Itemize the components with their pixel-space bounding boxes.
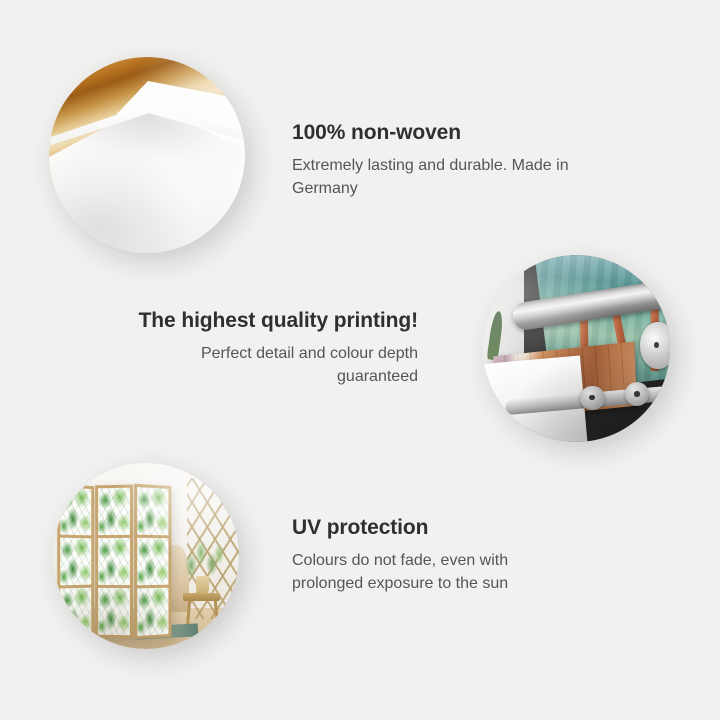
tropical-room-divider-photo bbox=[53, 463, 239, 649]
feature-text-non-woven: 100% non-woven Extremely lasting and dur… bbox=[292, 120, 602, 201]
wallpaper-peeling-sheet-photo bbox=[49, 57, 245, 253]
wide-format-printer-photo bbox=[483, 255, 670, 442]
feature-title-non-woven: 100% non-woven bbox=[292, 120, 602, 146]
feature-description-uv-protection: Colours do not fade, even with prolonged… bbox=[292, 550, 562, 595]
feature-image-non-woven bbox=[49, 57, 245, 253]
room-shading-overlay bbox=[53, 463, 239, 649]
feature-title-printing: The highest quality printing! bbox=[128, 308, 418, 334]
infographic-canvas: 100% non-woven Extremely lasting and dur… bbox=[0, 0, 720, 720]
feature-description-non-woven: Extremely lasting and durable. Made in G… bbox=[292, 155, 602, 200]
feature-text-uv-protection: UV protection Colours do not fade, even … bbox=[292, 515, 562, 596]
feature-text-printing: The highest quality printing! Perfect de… bbox=[128, 308, 418, 389]
feature-title-uv-protection: UV protection bbox=[292, 515, 562, 541]
feature-image-printing bbox=[483, 255, 670, 442]
feature-description-printing: Perfect detail and colour depth guarante… bbox=[128, 343, 418, 388]
wallpaper-shading-overlay bbox=[49, 57, 245, 253]
printer-shading-overlay bbox=[483, 255, 670, 442]
feature-image-uv-protection bbox=[53, 463, 239, 649]
